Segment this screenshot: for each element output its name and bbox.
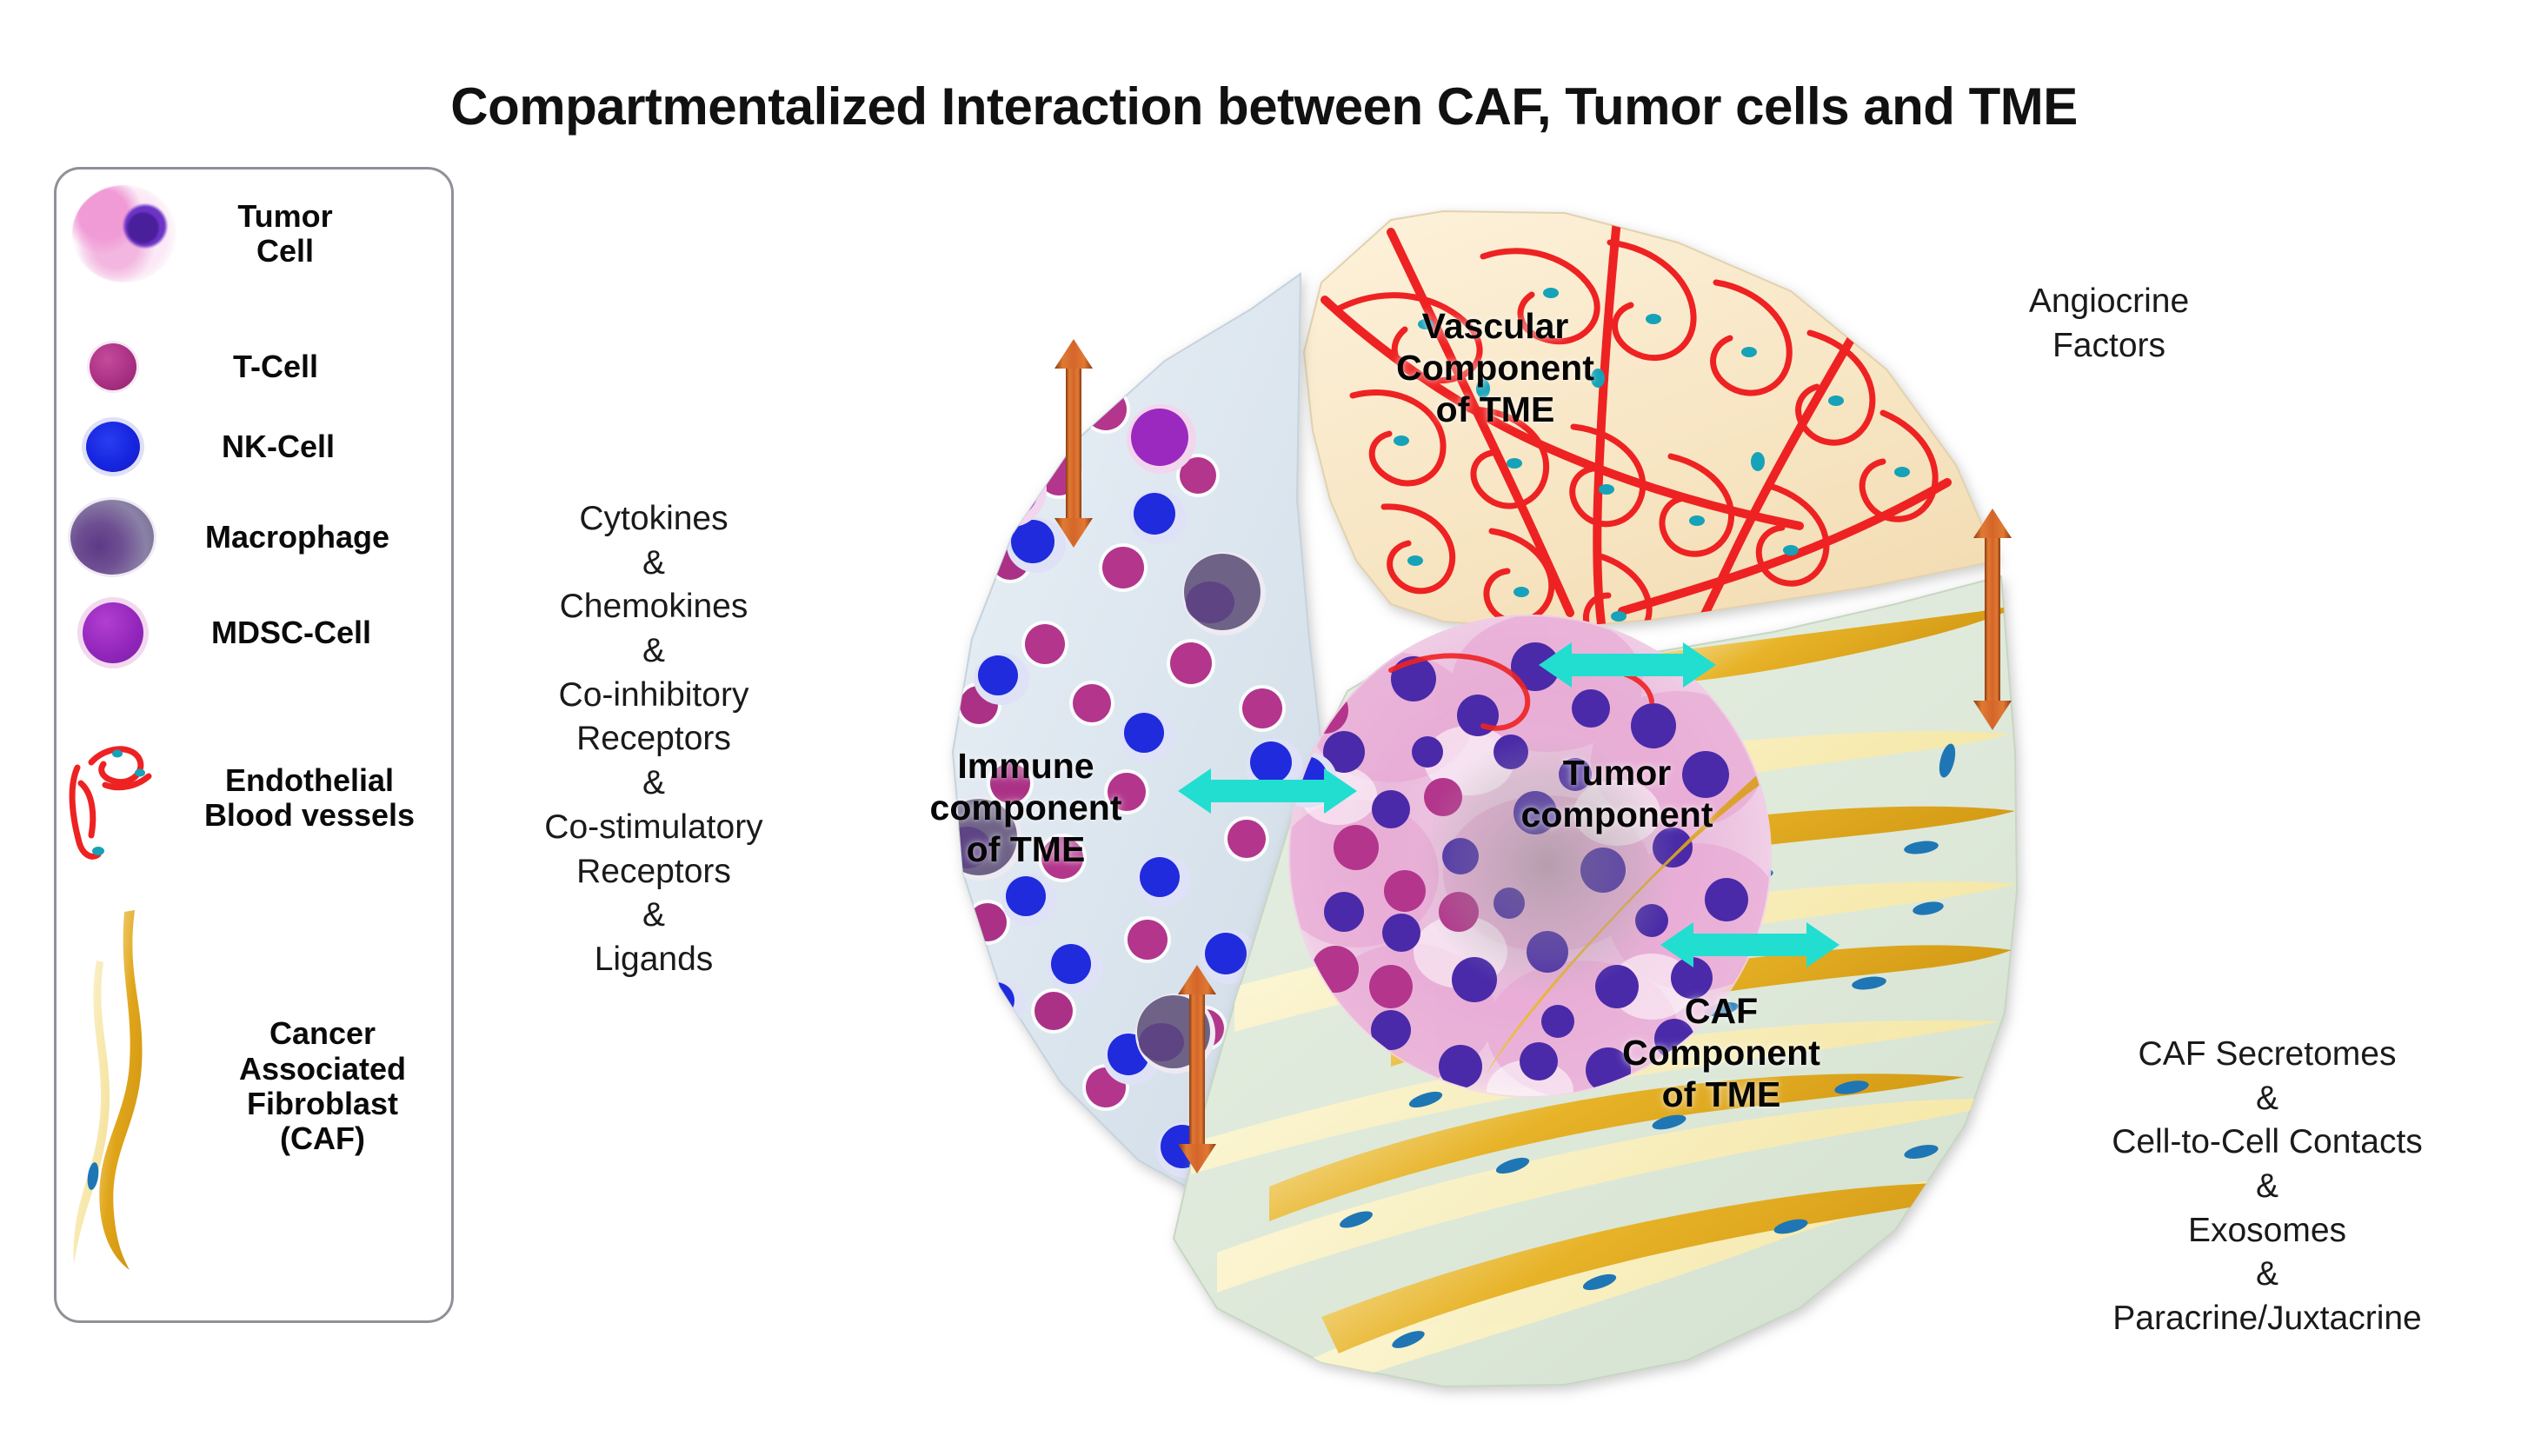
page-title: Compartmentalized Interaction between CA… bbox=[0, 76, 2528, 136]
tumor-cell-icon bbox=[72, 185, 176, 283]
t-cell-icon bbox=[90, 343, 136, 390]
legend-label-tumor-cell: TumorCell bbox=[176, 199, 394, 269]
immune-component-label: Immunecomponentof TME bbox=[895, 746, 1156, 871]
legend-item-t-cell: T-Cell bbox=[90, 343, 455, 390]
legend-label-nk-cell: NK-Cell bbox=[140, 429, 416, 464]
legend-item-macrophage: Macrophage bbox=[70, 500, 456, 575]
legend-item-endothelial-blood-vessels: EndothelialBlood vessels bbox=[65, 733, 456, 863]
legend-panel: TumorCell T-Cell NK-Cell Macrophage MDSC… bbox=[54, 167, 454, 1323]
legend-label-mdsc-cell: MDSC-Cell bbox=[143, 615, 439, 650]
legend-item-cancer-associated-fibroblast: CancerAssociatedFibroblast(CAF) bbox=[62, 900, 456, 1273]
immune-factors-text: Cytokines&Chemokines&Co-inhibitoryRecept… bbox=[489, 497, 819, 982]
legend-item-mdsc-cell: MDSC-Cell bbox=[83, 602, 456, 663]
vascular-component-label: VascularComponentof TME bbox=[1365, 306, 1626, 431]
legend-label-t-cell: T-Cell bbox=[136, 349, 415, 384]
endothelial-blood-vessels-icon bbox=[65, 733, 170, 863]
macrophage-icon bbox=[70, 500, 154, 575]
legend-label-endothelial-blood-vessels: EndothelialBlood vessels bbox=[170, 763, 449, 834]
caf-component-label: CAFComponentof TME bbox=[1591, 991, 1852, 1116]
legend-label-macrophage: Macrophage bbox=[154, 520, 441, 555]
vascular-component-region bbox=[1304, 211, 1998, 672]
nk-cell-icon bbox=[86, 422, 140, 472]
cancer-associated-fibroblast-icon bbox=[62, 900, 192, 1273]
tumor-component-label: Tumorcomponent bbox=[1478, 753, 1756, 836]
legend-item-tumor-cell: TumorCell bbox=[72, 185, 446, 283]
mdsc-cell-icon bbox=[83, 602, 143, 663]
legend-item-nk-cell: NK-Cell bbox=[86, 422, 451, 472]
legend-label-cancer-associated-fibroblast: CancerAssociatedFibroblast(CAF) bbox=[192, 1016, 453, 1156]
